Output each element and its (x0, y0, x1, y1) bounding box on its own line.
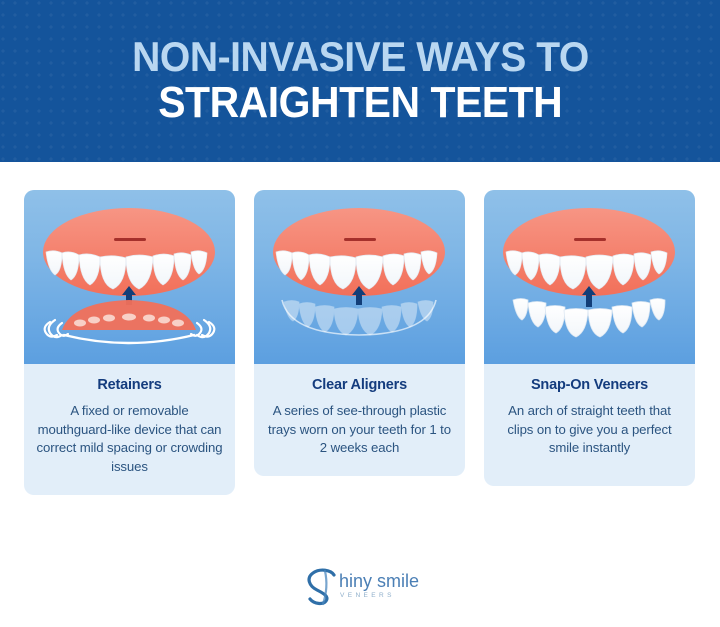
card-title-snap-on-veneers: Snap-On Veneers (496, 377, 683, 393)
logo-wordmark: hiny smile (339, 572, 419, 590)
card-description-snap-on-veneers: An arch of straight teeth that clips on … (496, 402, 683, 458)
retainer-illustration-svg (24, 190, 235, 364)
card-body-clear-aligners: Clear Aligners A series of see-through p… (254, 364, 465, 476)
footer: hiny smile VENEERS (0, 556, 720, 616)
header-banner: NON-INVASIVE WAYS TO STRAIGHTEN TEETH (0, 0, 720, 162)
card-clear-aligners[interactable]: Clear Aligners A series of see-through p… (254, 190, 465, 476)
card-body-retainers: Retainers A fixed or removable mouthguar… (24, 364, 235, 495)
brand-logo[interactable]: hiny smile VENEERS (301, 564, 419, 608)
card-description-retainers: A fixed or removable mouthguard-like dev… (36, 402, 223, 477)
card-snap-on-veneers[interactable]: Snap-On Veneers An arch of straight teet… (484, 190, 695, 486)
card-description-clear-aligners: A series of see-through plastic trays wo… (266, 402, 453, 458)
card-title-retainers: Retainers (36, 377, 223, 393)
page-title-line-1: NON-INVASIVE WAYS TO (132, 36, 589, 79)
clear-aligner-illustration-svg (254, 190, 465, 364)
card-title-clear-aligners: Clear Aligners (266, 377, 453, 393)
infographic-root: NON-INVASIVE WAYS TO STRAIGHTEN TEETH (0, 0, 720, 627)
snap-on-veneer-illustration-svg (484, 190, 695, 364)
illustration-retainers (24, 190, 235, 364)
card-retainers[interactable]: Retainers A fixed or removable mouthguar… (24, 190, 235, 495)
illustration-clear-aligners (254, 190, 465, 364)
page-title-line-2: STRAIGHTEN TEETH (158, 81, 562, 126)
illustration-snap-on-veneers (484, 190, 695, 364)
card-grid: Retainers A fixed or removable mouthguar… (24, 190, 696, 495)
logo-subtitle: VENEERS (340, 593, 419, 600)
card-body-snap-on-veneers: Snap-On Veneers An arch of straight teet… (484, 364, 695, 486)
logo-text-block: hiny smile VENEERS (339, 572, 419, 600)
